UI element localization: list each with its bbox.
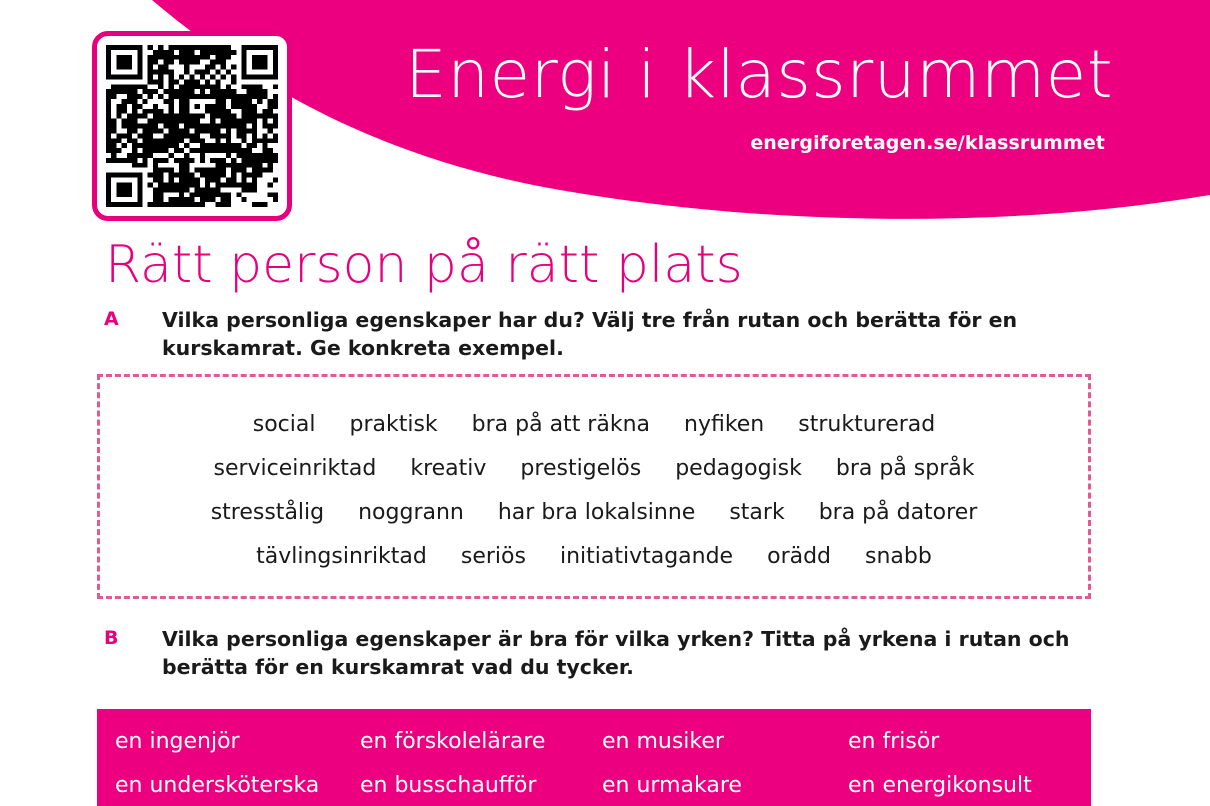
page-url: energiforetagen.se/klassrummet bbox=[405, 132, 1105, 154]
professions-row: en undersköterskaen busschauffören urmak… bbox=[97, 773, 1091, 806]
trait-word: orädd bbox=[767, 544, 831, 569]
trait-word: kreativ bbox=[410, 456, 486, 481]
task-a-letter: A bbox=[104, 308, 144, 330]
trait-word: bra på att räkna bbox=[472, 412, 650, 437]
traits-row: socialpraktiskbra på att räknanyfikenstr… bbox=[100, 412, 1088, 437]
task-a: A Vilka personliga egenskaper har du? Vä… bbox=[104, 306, 1094, 362]
trait-word: snabb bbox=[865, 544, 932, 569]
traits-row: tävlingsinriktadseriösinitiativtagandeor… bbox=[100, 544, 1088, 569]
profession-item: en musiker bbox=[602, 729, 724, 755]
trait-word: nyfiken bbox=[684, 412, 764, 437]
qr-code[interactable] bbox=[92, 31, 292, 221]
trait-word: tävlingsinriktad bbox=[256, 544, 427, 569]
professions-box: en ingenjören förskolelärareen musikeren… bbox=[97, 709, 1091, 806]
task-b: B Vilka personliga egenskaper är bra för… bbox=[104, 625, 1094, 681]
task-a-text: Vilka personliga egenskaper har du? Välj… bbox=[162, 306, 1082, 362]
qr-code-icon bbox=[106, 45, 278, 207]
trait-word: bra på datorer bbox=[819, 500, 978, 525]
trait-word: stresstålig bbox=[211, 500, 324, 525]
trait-word: social bbox=[253, 412, 316, 437]
trait-word: initiativtagande bbox=[560, 544, 733, 569]
task-b-text: Vilka personliga egenskaper är bra för v… bbox=[162, 625, 1082, 681]
trait-word: prestigelös bbox=[520, 456, 641, 481]
trait-word: serviceinriktad bbox=[214, 456, 377, 481]
trait-word: seriös bbox=[461, 544, 526, 569]
trait-word: bra på språk bbox=[836, 456, 975, 481]
task-b-letter: B bbox=[104, 627, 144, 649]
traits-row: serviceinriktadkreativprestigelöspedagog… bbox=[100, 456, 1088, 481]
professions-row: en ingenjören förskolelärareen musikeren… bbox=[97, 729, 1091, 773]
profession-item: en ingenjör bbox=[115, 729, 240, 755]
trait-word: pedagogisk bbox=[675, 456, 802, 481]
page-heading: Rätt person på rätt plats bbox=[105, 236, 743, 294]
trait-word: praktisk bbox=[349, 412, 437, 437]
trait-word: har bra lokalsinne bbox=[498, 500, 695, 525]
profession-item: en förskolelärare bbox=[360, 729, 545, 755]
profession-item: en energikonsult bbox=[848, 773, 1032, 799]
profession-item: en urmakare bbox=[602, 773, 742, 799]
profession-item: en busschaufför bbox=[360, 773, 536, 799]
profession-item: en undersköterska bbox=[115, 773, 319, 799]
trait-word: noggrann bbox=[358, 500, 464, 525]
trait-word: strukturerad bbox=[798, 412, 935, 437]
page-title: Energi i klassrummet bbox=[405, 38, 1105, 112]
traits-row: stresstålignoggrannhar bra lokalsinnesta… bbox=[100, 500, 1088, 525]
trait-word: stark bbox=[729, 500, 784, 525]
traits-box: socialpraktiskbra på att räknanyfikenstr… bbox=[97, 374, 1091, 599]
profession-item: en frisör bbox=[848, 729, 939, 755]
